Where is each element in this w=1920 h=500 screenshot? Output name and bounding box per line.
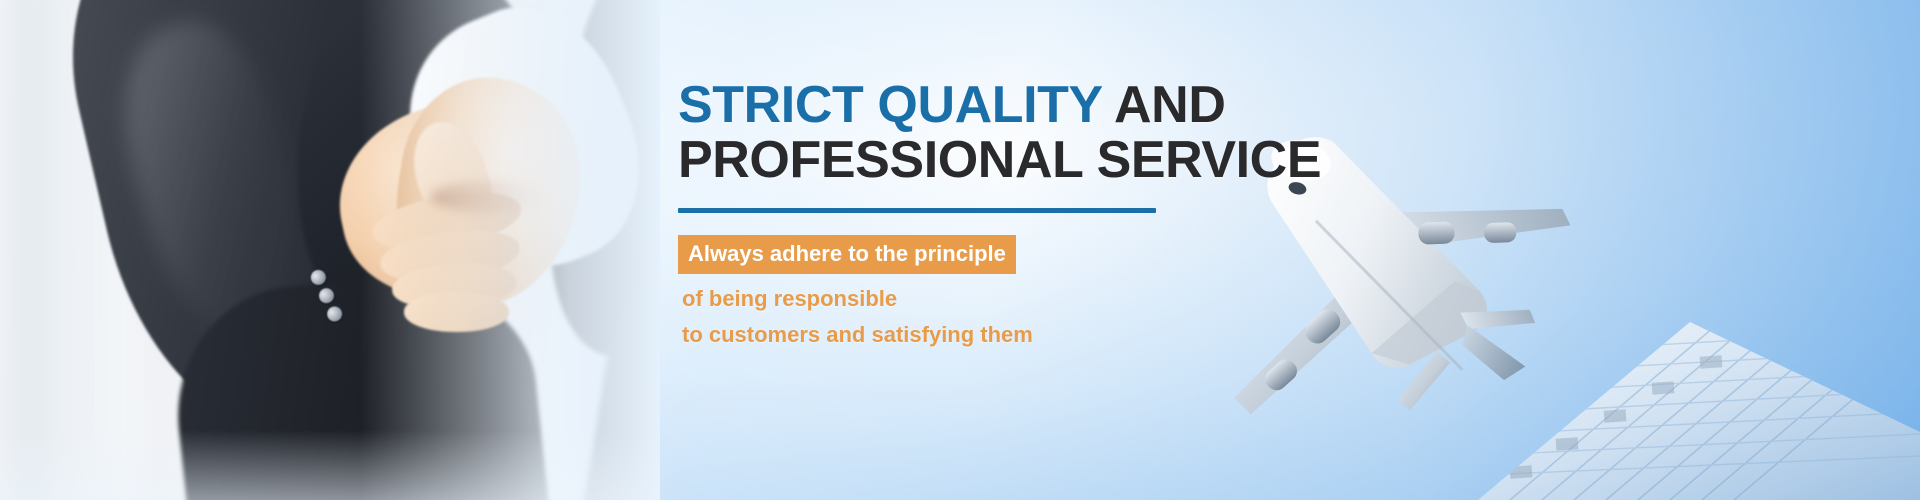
photo-edge-fade	[360, 0, 660, 500]
headline-line-1: STRICT QUALITY AND	[678, 78, 1298, 133]
banner-content: STRICT QUALITY AND PROFESSIONAL SERVICE …	[678, 78, 1298, 346]
tagline-line-2: of being responsible	[678, 288, 1298, 310]
promo-banner: STRICT QUALITY AND PROFESSIONAL SERVICE …	[0, 0, 1920, 500]
tagline-highlight: Always adhere to the principle	[678, 235, 1016, 274]
tagline-line-3: to customers and satisfying them	[678, 324, 1298, 346]
photo-bottom-fade	[0, 430, 660, 500]
handshake-photo	[0, 0, 660, 500]
headline-divider	[678, 208, 1156, 213]
headline-accent-text: STRICT QUALITY	[678, 76, 1102, 134]
headline-line-2: PROFESSIONAL SERVICE	[678, 133, 1298, 188]
tagline-block: Always adhere to the principle of being …	[678, 235, 1298, 346]
headline-rest-text: AND	[1102, 76, 1226, 134]
